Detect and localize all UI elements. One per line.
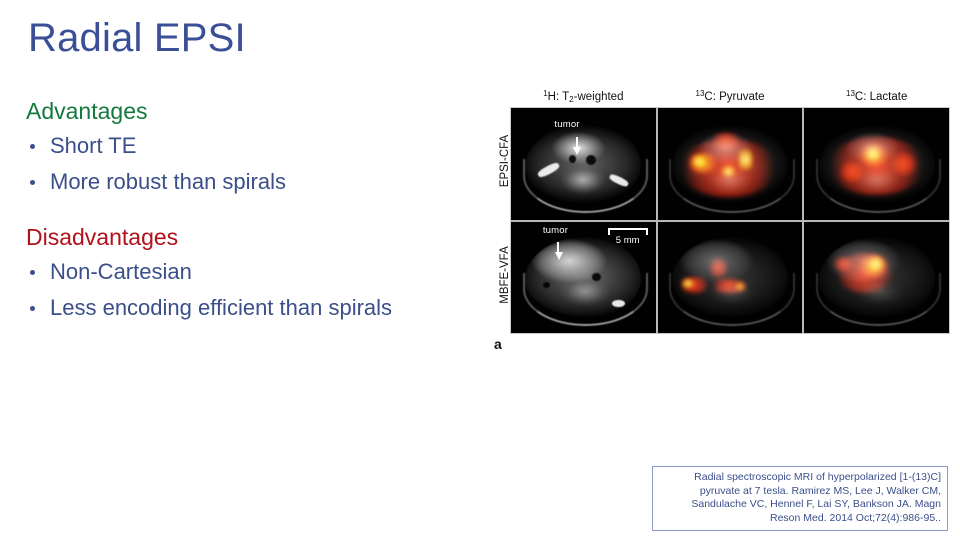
list-item: Short TE — [26, 128, 466, 164]
panel-epsicfa-pyruvate — [658, 108, 803, 220]
mri-skull-rim — [523, 159, 649, 212]
mri-skull-rim — [523, 273, 649, 326]
list-item-label: Non-Cartesian — [50, 259, 192, 284]
citation-box: Radial spectroscopic MRI of hyperpolariz… — [652, 466, 948, 531]
advantages-heading: Advantages — [26, 96, 466, 126]
metabolite-overlay-hotspot — [839, 162, 865, 182]
list-item: Less encoding efficient than spirals — [26, 290, 466, 326]
bullet-dot-icon — [30, 144, 35, 149]
column-header-superscript: 13 — [846, 89, 855, 98]
list-item-label: Short TE — [50, 133, 136, 158]
figure-column-headers: 1H: T2-weighted 13C: Pyruvate 13C: Lacta… — [510, 82, 950, 106]
metabolite-overlay-hotspot — [739, 146, 752, 173]
column-header-main: H: T — [548, 91, 570, 103]
mri-dark-region — [569, 155, 576, 163]
page-title: Radial EPSI — [28, 14, 246, 62]
disadvantages-heading: Disadvantages — [26, 222, 466, 252]
tumor-annotation-label: tumor — [554, 119, 579, 130]
scale-bar-line — [608, 228, 648, 235]
figure-panel-grid: tumor — [510, 107, 950, 334]
column-header-t2-weighted: 1H: T2-weighted — [510, 82, 657, 106]
panel-mbfevfa-pyruvate — [658, 222, 803, 334]
metabolite-overlay-hotspot — [691, 156, 707, 167]
metabolite-overlay-hotspot — [868, 257, 884, 270]
metabolite-overlay-hotspot — [833, 257, 853, 270]
slide-canvas: Radial EPSI Advantages Short TE More rob… — [0, 0, 960, 540]
list-item-label: More robust than spirals — [50, 169, 286, 194]
scale-bar: 5 mm — [608, 228, 648, 247]
figure-row-labels: EPSI-CFA MBFE-VFA — [480, 107, 508, 334]
bullet-dot-icon — [30, 306, 35, 311]
tumor-annotation-label: tumor — [543, 225, 568, 236]
metabolite-overlay-hotspot — [891, 153, 917, 175]
tumor-arrow-icon — [573, 147, 581, 155]
metabolite-overlay-hotspot — [721, 166, 735, 177]
scale-bar-label: 5 mm — [608, 235, 648, 247]
column-header-lactate: 13C: Lactate — [803, 82, 950, 106]
column-header-main: C: Lactate — [855, 91, 907, 103]
panel-epsicfa-lactate — [804, 108, 949, 220]
column-header-main: C: Pyruvate — [704, 91, 764, 103]
bullet-dot-icon — [30, 270, 35, 275]
panel-mbfevfa-t2: tumor 5 mm — [511, 222, 656, 334]
panel-mbfevfa-lactate — [804, 222, 949, 334]
metabolite-overlay-hotspot — [733, 282, 747, 291]
mri-dark-region — [592, 273, 601, 281]
advantages-list: Short TE More robust than spirals — [26, 128, 466, 200]
metabolite-overlay-hotspot — [710, 133, 742, 151]
disadvantages-list: Non-Cartesian Less encoding efficient th… — [26, 254, 466, 326]
content-column: Advantages Short TE More robust than spi… — [26, 96, 466, 326]
list-item-label: Less encoding efficient than spirals — [50, 295, 392, 320]
column-header-tail: -weighted — [574, 91, 624, 103]
column-header-pyruvate: 13C: Pyruvate — [657, 82, 804, 106]
panel-epsicfa-t2: tumor — [511, 108, 656, 220]
list-item: Non-Cartesian — [26, 254, 466, 290]
list-item: More robust than spirals — [26, 164, 466, 200]
figure-panel-letter: a — [494, 336, 502, 352]
mri-figure: 1H: T2-weighted 13C: Pyruvate 13C: Lacta… — [480, 82, 958, 354]
bullet-dot-icon — [30, 180, 35, 185]
tumor-arrow-icon — [555, 252, 563, 260]
